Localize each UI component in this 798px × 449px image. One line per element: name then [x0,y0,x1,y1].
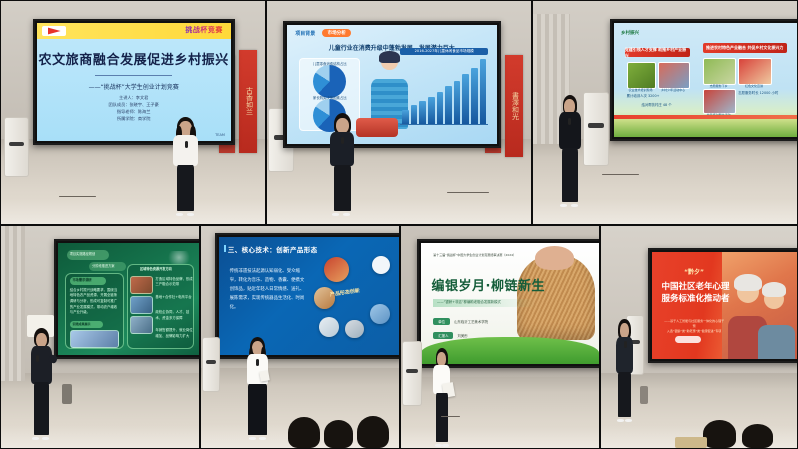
left-card-label: 市场需求调研 [73,278,107,283]
scroll-text: 古香如兰 [241,56,254,146]
bar [411,105,418,124]
bar [428,97,435,125]
audience-head [357,416,389,448]
air-conditioner [4,117,30,177]
led-screen: 乡村振兴 党建引领人才支撑 助推乡村产业振兴 推进农村特色产业融合 共促乡村文化… [610,19,798,141]
slide-banner-text: 挑战杯竞赛 [185,25,223,35]
floor-cable [447,192,489,193]
collage-panel-7[interactable]: “黔夕” 中国社区老年心理服务标准化推动者 ——基于人工智能与社区服务一体化的心… [600,225,798,449]
legs [334,165,351,211]
shoe [435,444,442,447]
presenter-person [25,328,59,439]
slide-photo [738,58,772,85]
collage-panel-6[interactable]: 第十三届“挑战杯”中国大学生创业计划竞赛终审决赛（2024） 编银岁月·柳链新生… [400,225,600,449]
shoe [442,444,449,447]
slide-brand: TEAM [215,133,225,137]
torso [173,135,198,166]
photo-caption: 乡村少年活动中心 [656,88,689,92]
slide-thumbnail [70,330,120,348]
pie-chart [313,65,346,98]
hand-photo [535,246,574,270]
microphone [36,355,39,362]
collage-panel-3[interactable]: 乡村振兴 党建引领人才支撑 助推乡村产业振兴 推进农村特色产业融合 共促乡村文化… [532,0,798,225]
microphone [256,359,259,366]
slide-2: 项目背景 市场分析 儿童行业在消费升级中蓬勃发展，发展潜力巨大 儿童零食消费结构… [287,25,497,144]
head [620,323,629,337]
audience-head [703,420,736,448]
row-value: 山东临沂工艺美术学院 [454,319,488,324]
slide-title: 编银岁月·柳链新生 [432,275,545,294]
curtain [1,226,25,381]
speaker-stand [62,384,72,404]
air-conditioner [402,341,422,405]
slide-quote: “黔夕” [667,267,722,276]
slide-title: 农文旅商融合发展促进乡村振兴 [37,49,231,68]
right-card-label: 区域特色资源开发方向 [140,267,188,272]
photo-caption: 农业技术培训现场 [625,88,657,92]
slide-title: 中国社区老年心理服务标准化推动者 [661,281,731,306]
slide-eyebrow: 第十三届“挑战杯”中国大学生创业计划竞赛终审决赛（2024） [433,253,516,258]
collage-row-top: 古香如兰 笔走龙蛇 挑战杯竞赛 农文旅商融合发展促进乡村振兴 ——“挑战杯”大学… [0,0,798,225]
microphone [624,341,627,348]
slide-subtext: ——基于人工智能与社区服务一体化的心理干预 入选“银龄”类“助老惠”类“健康促进… [664,319,725,335]
side-text: 结对帮扶村庄 48 个 [641,103,671,109]
hair [762,282,786,297]
slide-4: 项目实施路径规划 分阶段推进方案 市场需求调研 结合乡村振兴战略要求，围绕当地特… [58,243,199,354]
collage-panel-4[interactable]: 项目实施路径规划 分阶段推进方案 市场需求调研 结合乡村振兴战略要求，围绕当地特… [0,225,200,449]
bar-chart: 2016-2027年儿童休闲食品市场规模 [400,56,488,125]
meta-line: 主讲人：李文君 [37,94,231,101]
shoe [571,204,578,207]
chart-axis [400,124,488,125]
side-text: 志愿服务时长 12000 小时 [738,91,778,97]
microphone [341,137,344,144]
legs [34,382,49,434]
collage-panel-2[interactable]: 書澤和光 墨韻生香 项目背景 市场分析 儿童行业在消费升级中蓬勃发展，发展潜力巨… [266,0,532,225]
slide-thumbnail [130,276,153,295]
collage-row-bottom: 项目实施路径规划 分阶段推进方案 市场需求调研 结合乡村振兴战略要求，围绕当地特… [0,225,798,449]
presenter-person [165,117,207,215]
slide-subtitle: ——“挑战杯”大学生创业计划竞赛 [37,82,231,91]
bar [402,110,409,125]
slide-label-top: 项目实施路径规划 [70,252,108,257]
slide-logo-text: 乡村振兴 [621,30,639,36]
bar [419,101,426,124]
audience [201,404,399,448]
right-item: 年销售额提升、就业岗位增加、品牌影响力扩大 [155,328,193,339]
slide-row: 单位 山东临沂工艺美术学院 [433,318,488,325]
slide-heading: 三、核心技术：创新产品形态 [228,244,318,254]
meta-line: 指导老师：陈海兰 [37,108,231,115]
red-banner-right: 推进农村特色产业融合 共促乡村文化振兴力 [703,43,787,52]
decor-glow [165,251,193,264]
floor-reflection [267,199,531,224]
ring-node [319,317,339,337]
torso [31,346,53,384]
head [564,99,575,113]
slide-thumbnail [130,316,153,335]
bar [437,92,444,125]
photo-caption: 红色文化宣讲 [736,84,771,88]
right-item: 政校企协同，人才、技术、资金多方保障 [155,310,193,321]
meta-line: 团队成员：张晓宇、王子豪 [37,101,231,108]
presenter-person [427,348,457,446]
collage-panel-1[interactable]: 古香如兰 笔走龙蛇 挑战杯竞赛 农文旅商融合发展促进乡村振兴 ——“挑战杯”大学… [0,0,266,225]
chart-title: 2016-2027年儿童休闲食品市场规模 [400,48,488,55]
title-rule [95,75,173,76]
bar [445,86,452,125]
legs [177,165,194,211]
floor-cable [441,416,461,417]
ring-center-label: 产品形态创新 [330,288,361,299]
row-value: 刘美彤 [457,333,467,338]
slide-6: 第十三届“挑战杯”中国大学生创业计划竞赛终审决赛（2024） 编银岁月·柳链新生… [421,243,599,363]
air-conditioner [202,337,220,392]
right-item: 基地+合作社+电商平台 [155,295,193,301]
table [675,437,706,448]
shoe [343,213,350,216]
head [36,333,47,347]
elderly-photo [722,252,797,359]
competition-logo-icon [42,26,65,37]
bar [471,68,478,125]
slide-photo [703,89,737,114]
right-item: 打造区域特色品牌，形成三产融合示范带 [155,277,193,288]
slide-7: “黔夕” 中国社区老年心理服务标准化推动者 ——基于人工智能与社区服务一体化的心… [652,252,797,359]
slide-tag: 项目背景 [295,30,315,37]
legs [562,148,578,202]
presenter-person [322,113,362,216]
slide-pill-badge: 市场分析 [322,29,350,37]
illustration-sofa [356,118,398,137]
slide-thumbnail [130,296,153,315]
slide-body: 传统非遗技法起源认知弱化、受众缩窄，转化为音乐、造物、香囊、便携文创饰品，贴近年… [230,267,306,312]
bar [454,81,461,125]
calligraphy-scroll: 古香如兰 [239,50,257,153]
audience-head [742,424,773,448]
led-screen: 项目实施路径规划 分阶段推进方案 市场需求调研 结合乡村振兴战略要求，围绕当地特… [54,239,200,358]
subtext-line: ——基于人工智能与社区服务一体化的心理干预 [664,319,725,330]
audience-head [324,420,354,448]
presenter-person [551,95,588,207]
led-screen: “黔夕” 中国社区老年心理服务标准化推动者 ——基于人工智能与社区服务一体化的心… [648,248,798,363]
slide-label-top2: 分阶段推进方案 [92,264,124,269]
illustration-hair [379,51,399,63]
slide-grass [614,119,798,137]
row-key: 单位 [433,318,450,325]
ring-node [370,304,390,324]
audience-head [288,417,320,448]
slide-photo [703,58,737,85]
slide-3: 乡村振兴 党建引领人才支撑 助推乡村产业振兴 推进农村特色产业融合 共促乡村文化… [614,23,798,137]
shoe [332,213,339,216]
body [758,325,796,359]
ring-node [345,320,363,338]
led-screen: 项目背景 市场分析 儿童行业在消费升级中蓬勃发展，发展潜力巨大 儿童零食消费结构… [283,21,501,148]
scroll-text: 書澤和光 [507,61,520,151]
ring-node [324,257,349,282]
photo-caption: 志愿服务下乡 [701,84,736,88]
bar [462,74,469,124]
slide-button[interactable] [675,336,701,343]
notes-paper [259,370,269,382]
arm [48,354,58,364]
left-card-label2: 实践成果展示 [73,322,104,327]
presentation-collage: 古香如兰 笔走龙蛇 挑战杯竞赛 农文旅商融合发展促进乡村振兴 ——“挑战杯”大学… [0,0,798,449]
head [437,352,446,366]
ring-node [372,256,390,274]
side-text: 累计培训人次 3200+ [627,94,660,100]
legs [436,393,448,442]
bar-series [400,56,488,125]
hair [734,274,761,291]
row-key: 汇报人 [433,332,453,339]
slide-band-text: ——“银龄+非遗”柳编助老融合发展新模式 [437,299,501,304]
collage-panel-5[interactable]: 三、核心技术：创新产品形态 传统非遗技法起源认知弱化、受众缩窄，转化为音乐、造物… [200,225,400,449]
slide-photo [658,62,690,89]
subtext-line: 入选“银龄”类“助老惠”类“健康促进”专项 [664,329,725,334]
left-card-body: 结合乡村振兴战略要求，围绕当地特色农产品资源，开展全链条调研与分析，形成可复制可… [70,288,118,316]
red-banner-left: 党建引领人才支撑 助推乡村产业振兴 [625,48,690,57]
head [336,118,349,133]
speaker-stand [640,386,648,404]
floor-reflection [1,199,265,224]
microphone [185,141,188,148]
calligraphy-scroll: 書澤和光 [505,55,523,158]
bar [480,59,487,124]
slide-photo [627,62,657,89]
product-ring-diagram: 产品形态创新 [309,256,392,343]
floor-cable [602,174,639,175]
